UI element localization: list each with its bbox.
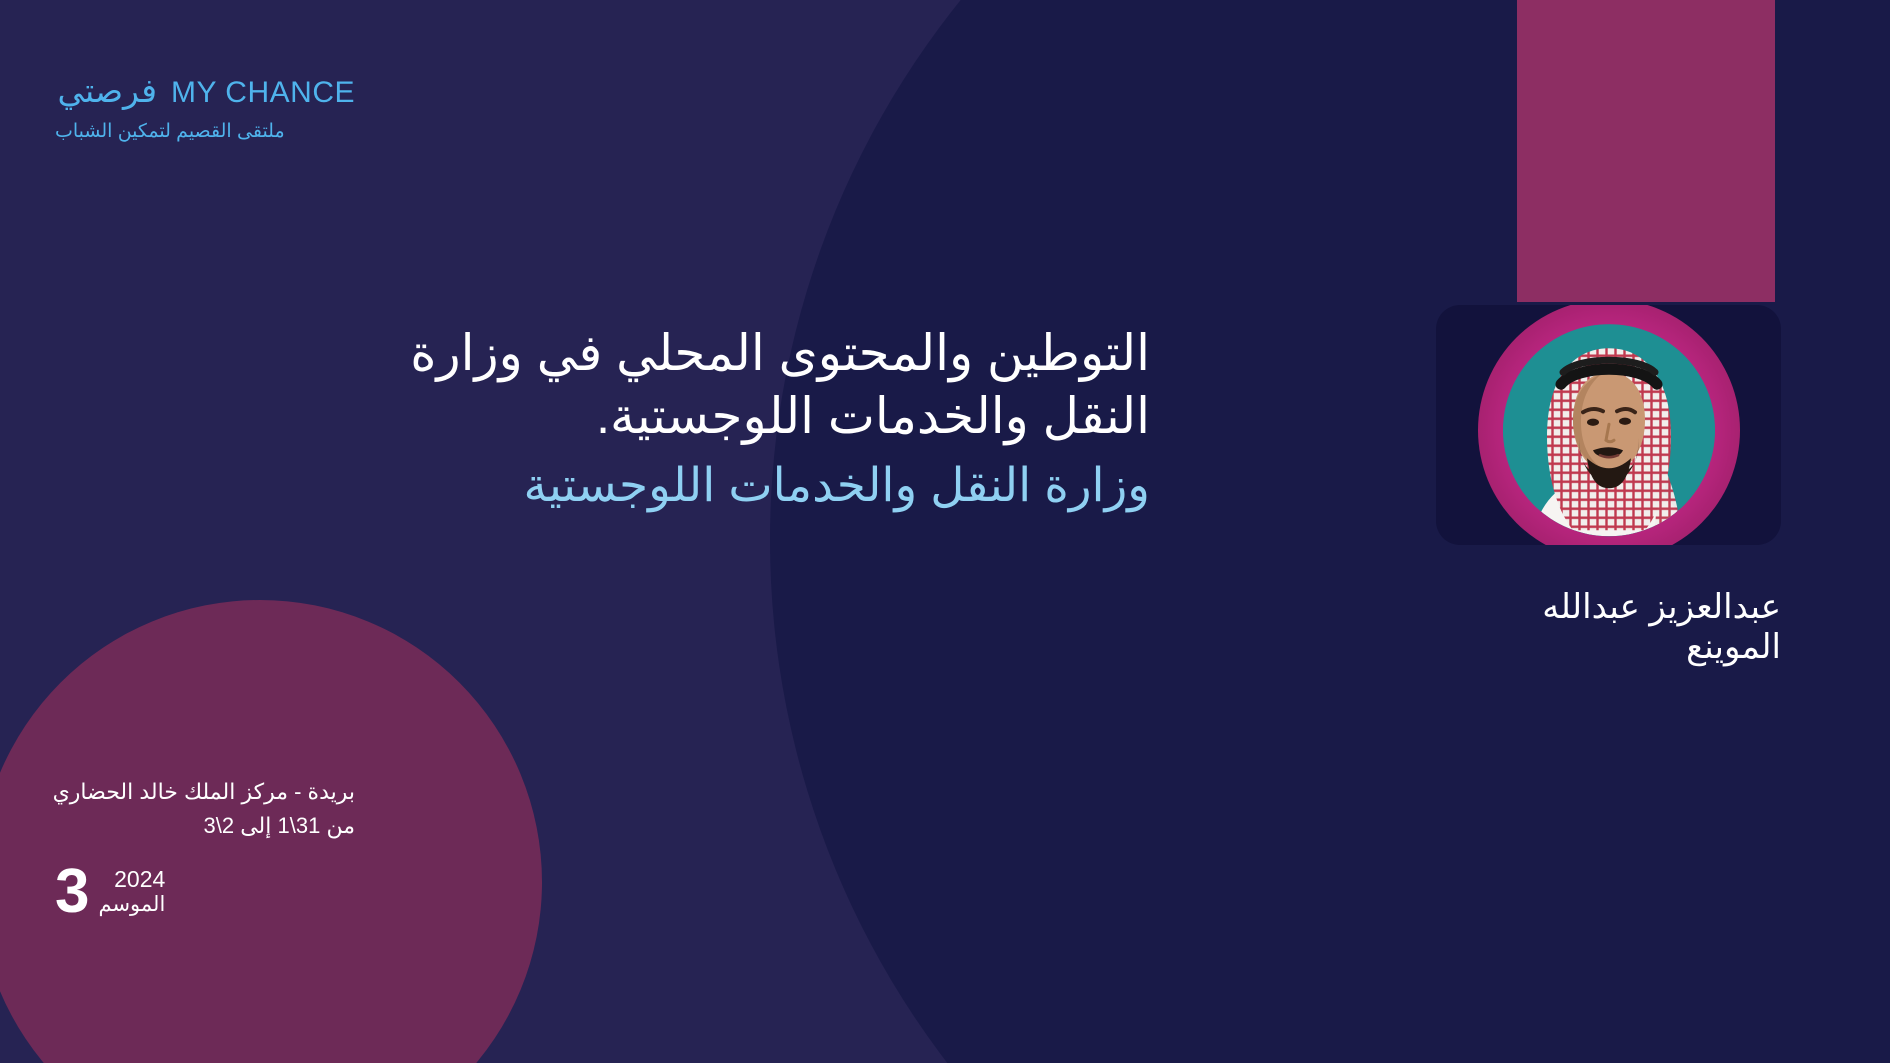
brand-name-english: MY CHANCE <box>171 78 355 108</box>
season-label: الموسم <box>98 893 165 918</box>
speaker-portrait-illustration <box>1503 324 1715 536</box>
event-venue: بريدة - مركز الملك خالد الحضاري <box>55 775 355 809</box>
speaker-block: عبدالعزيز عبدالله الموينع <box>1436 305 1781 667</box>
session-title-line-2: النقل والخدمات اللوجستية. <box>340 385 1150 448</box>
speaker-avatar <box>1503 324 1715 536</box>
session-title-block: التوطين والمحتوى المحلي في وزارة النقل و… <box>340 322 1150 515</box>
speaker-photo-ring <box>1478 305 1740 545</box>
season-year: 2024 <box>114 866 165 893</box>
speaker-name: عبدالعزيز عبدالله الموينع <box>1436 587 1781 667</box>
brand-logo-names: MY CHANCE فرصتي <box>55 74 355 108</box>
event-session-slide: MY CHANCE فرصتي ملتقى القصيم لتمكين الشب… <box>0 0 1890 1063</box>
season-number: 3 <box>55 865 88 918</box>
background-magenta-rectangle <box>1517 0 1775 302</box>
season-meta: 2024 الموسم <box>98 866 165 918</box>
brand-name-arabic: فرصتي <box>58 74 157 107</box>
season-badge: 3 2024 الموسم <box>55 865 165 918</box>
event-details: بريدة - مركز الملك خالد الحضاري من 31\1 … <box>55 775 355 843</box>
speaker-name-line-1: عبدالعزيز عبدالله <box>1442 587 1781 627</box>
brand-tagline: ملتقى القصيم لتمكين الشباب <box>55 122 355 141</box>
speaker-photo-card <box>1436 305 1781 545</box>
brand-logo: MY CHANCE فرصتي ملتقى القصيم لتمكين الشب… <box>55 74 355 141</box>
session-title-line-1: التوطين والمحتوى المحلي في وزارة <box>340 322 1150 385</box>
event-dates: من 31\1 إلى 2\3 <box>55 809 355 843</box>
speaker-name-line-2: الموينع <box>1442 627 1781 667</box>
session-organization: وزارة النقل والخدمات اللوجستية <box>340 455 1150 515</box>
